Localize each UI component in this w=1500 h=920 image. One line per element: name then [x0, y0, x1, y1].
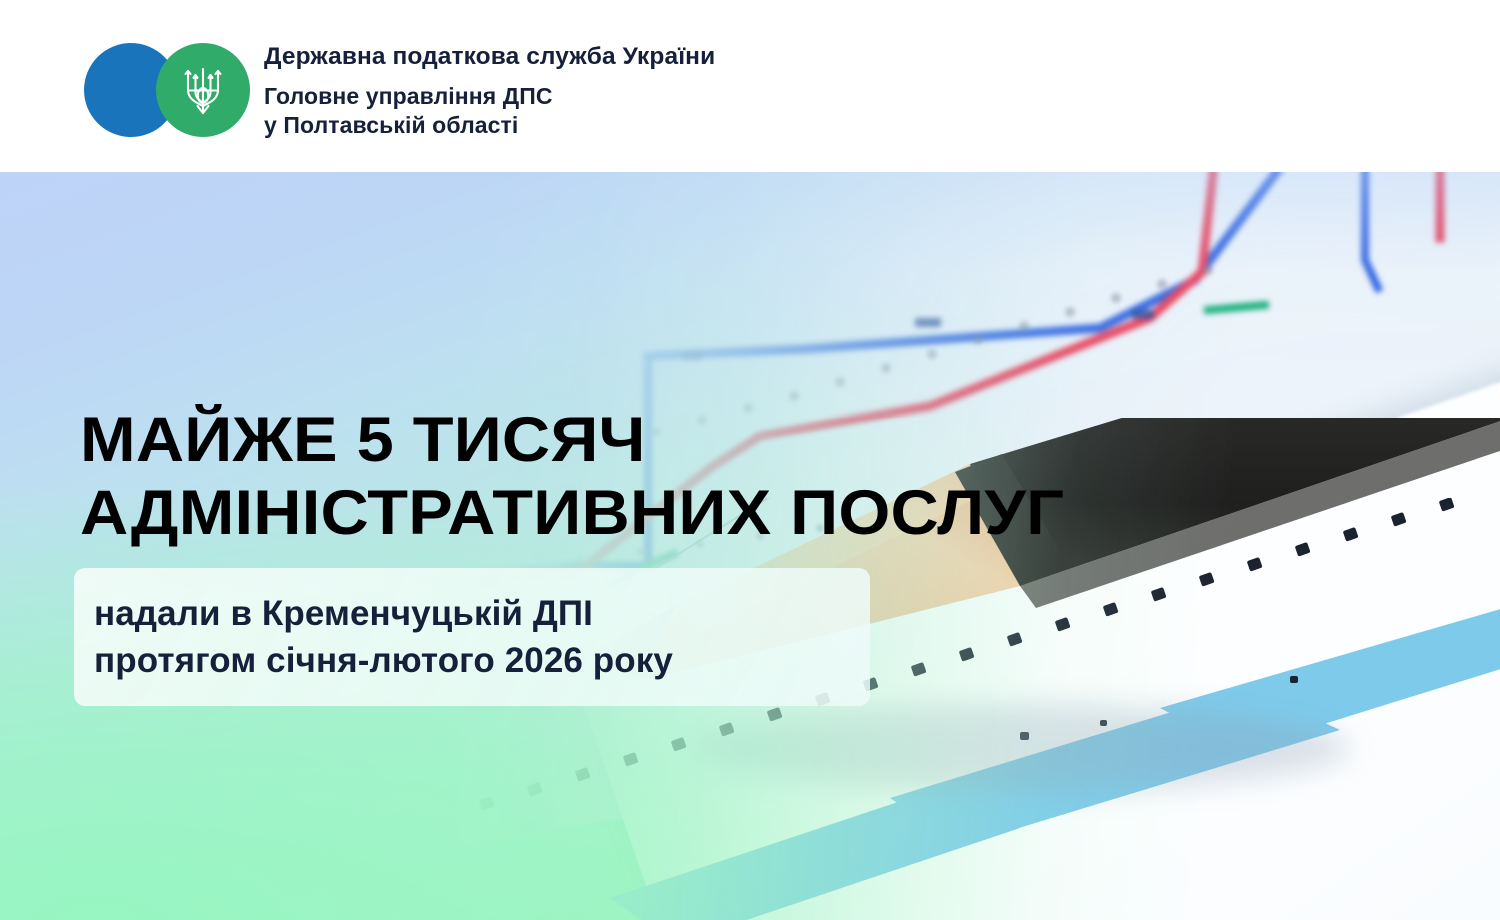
poster-canvas: Державна податкова служба України Головн… [0, 0, 1500, 920]
page-title: МАЙЖЕ 5 ТИСЯЧ АДМІНІСТРАТИВНИХ ПОСЛУГ [80, 404, 1064, 550]
headline-line-2: АДМІНІСТРАТИВНИХ ПОСЛУГ [80, 477, 1064, 550]
org-name-line-1: Державна податкова служба України [264, 42, 715, 72]
headline-line-1: МАЙЖЕ 5 ТИСЯЧ [80, 404, 1064, 477]
dps-logo [84, 43, 250, 137]
subtitle-line-2: протягом січня-лютого 2026 року [94, 637, 870, 684]
subtitle-panel: надали в Кременчуцькій ДПІ протягом січн… [74, 568, 870, 706]
tryzub-icon [180, 65, 226, 117]
page-header: Державна податкова служба України Головн… [0, 0, 1500, 172]
org-name-line-2: Головне управління ДПС [264, 82, 715, 111]
subtitle-line-1: надали в Кременчуцькій ДПІ [94, 590, 870, 637]
org-title-block: Державна податкова служба України Головн… [264, 42, 715, 140]
org-name-line-3: у Полтавській області [264, 111, 715, 140]
hero-canvas: МАЙЖЕ 5 ТИСЯЧ АДМІНІСТРАТИВНИХ ПОСЛУГ на… [0, 172, 1500, 920]
